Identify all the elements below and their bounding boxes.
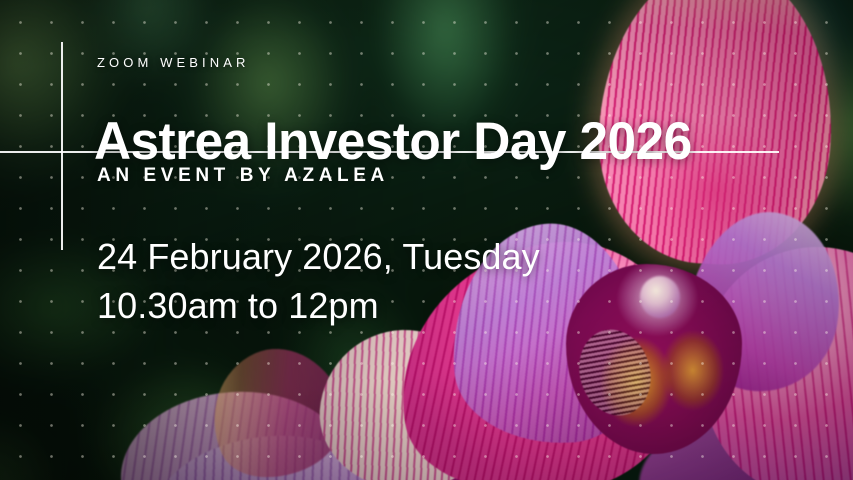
page-title: Astrea Investor Day 2026 xyxy=(94,115,692,168)
banner-content: ZOOM WEBINAR Astrea Investor Day 2026 AN… xyxy=(97,0,837,480)
event-banner: ZOOM WEBINAR Astrea Investor Day 2026 AN… xyxy=(0,0,853,480)
organizer-label: AN EVENT BY AZALEA xyxy=(97,165,389,187)
event-date: 24 February 2026, Tuesday xyxy=(97,232,540,281)
vertical-divider xyxy=(61,42,63,250)
event-details: 24 February 2026, Tuesday 10.30am to 12p… xyxy=(97,232,540,330)
eyebrow-label: ZOOM WEBINAR xyxy=(97,55,249,70)
event-time: 10.30am to 12pm xyxy=(97,281,540,330)
